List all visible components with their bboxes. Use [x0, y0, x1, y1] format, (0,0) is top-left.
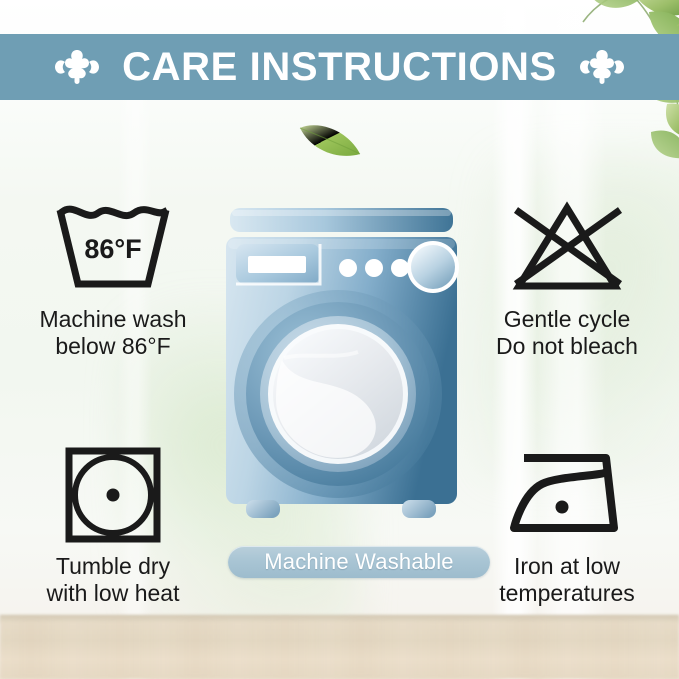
machine-washable-badge: Machine Washable: [228, 546, 490, 578]
badge-label: Machine Washable: [264, 551, 453, 573]
fleur-de-lis-icon-right: [579, 48, 625, 86]
care-symbol-caption: Tumble dry with low heat: [8, 553, 218, 606]
care-symbol-caption: Iron at low temperatures: [462, 553, 672, 606]
fleur-de-lis-icon-left: [54, 48, 100, 86]
tumble-dry-square-icon: [8, 443, 218, 547]
care-symbol-tumble-dry: Tumble dry with low heat: [8, 443, 218, 606]
page-title: CARE INSTRUCTIONS: [122, 47, 557, 87]
care-symbol-gentle-no-bleach: Gentle cycle Do not bleach: [462, 196, 672, 359]
wash-temperature-value: 86°F: [84, 234, 141, 264]
table-wood-grain: [0, 617, 679, 679]
floating-leaf-icon: [296, 118, 364, 162]
triangle-crossed-out-icon: [462, 196, 672, 300]
header-banner: CARE INSTRUCTIONS: [0, 34, 679, 100]
care-symbol-iron-low: Iron at low temperatures: [462, 443, 672, 606]
care-instructions-infographic: CARE INSTRUCTIONS 86°F Machine wash belo…: [0, 0, 679, 679]
care-symbol-caption: Gentle cycle Do not bleach: [462, 306, 672, 359]
washing-machine-illustration: [224, 208, 459, 530]
care-symbol-machine-wash: 86°F Machine wash below 86°F: [8, 196, 218, 359]
care-symbol-caption: Machine wash below 86°F: [8, 306, 218, 359]
wash-basin-icon: 86°F: [8, 196, 218, 300]
iron-icon: [462, 443, 672, 547]
